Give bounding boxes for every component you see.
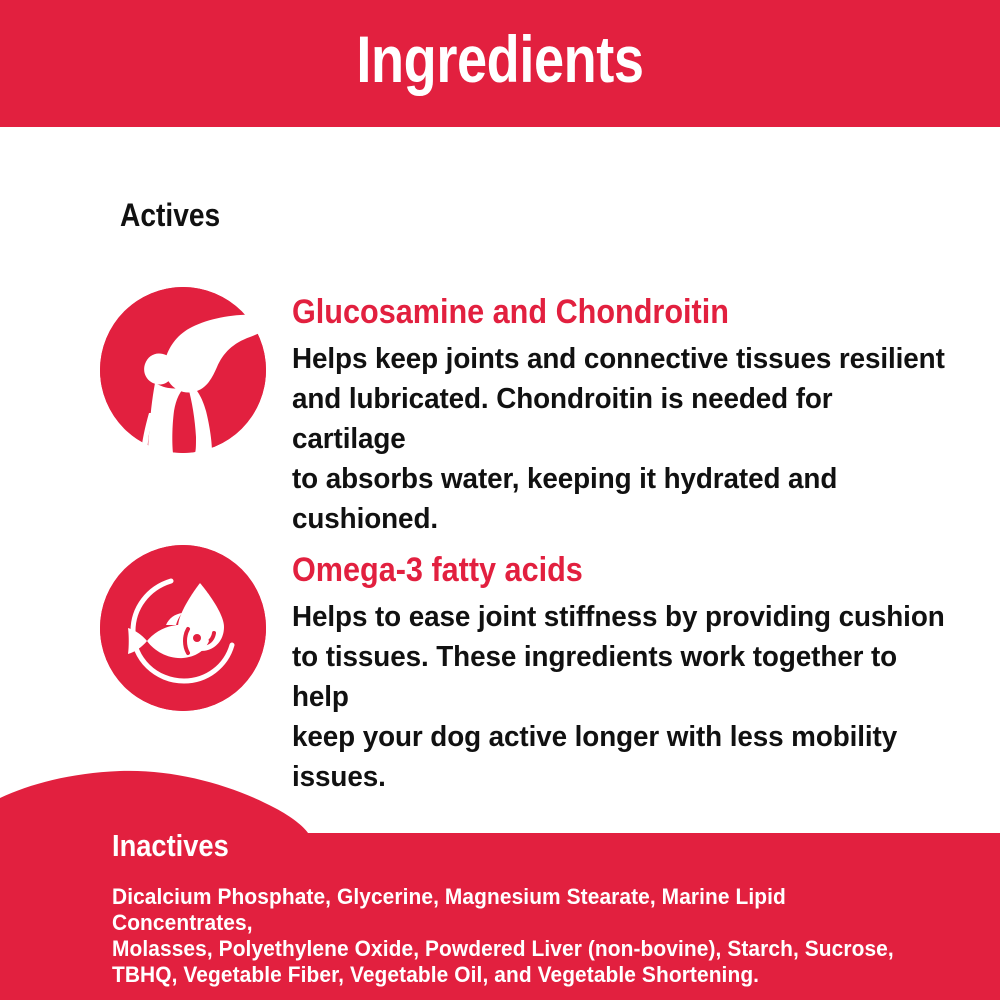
- inactives-panel: Inactives Dicalcium Phosphate, Glycerine…: [0, 760, 1000, 1000]
- ingredient-title: Omega-3 fatty acids: [292, 551, 911, 589]
- header-band: Ingredients: [0, 0, 1000, 127]
- actives-section-label: Actives: [120, 196, 220, 234]
- inactives-body-text: Dicalcium Phosphate, Glycerine, Magnesiu…: [112, 884, 929, 988]
- knee-joint-bone-icon: [100, 287, 266, 453]
- ingredient-item-glucosamine: Glucosamine and Chondroitin Helps keep j…: [100, 287, 980, 539]
- inactives-title: Inactives: [112, 828, 869, 864]
- ingredient-description: Helps keep joints and connective tissues…: [292, 339, 952, 539]
- ingredient-title: Glucosamine and Chondroitin: [292, 293, 911, 331]
- ingredient-text-block: Glucosamine and Chondroitin Helps keep j…: [266, 287, 980, 539]
- fish-oil-droplet-icon: [100, 545, 266, 711]
- ingredients-panel: Ingredients Actives: [0, 0, 1000, 1000]
- inactives-content: Inactives Dicalcium Phosphate, Glycerine…: [112, 828, 972, 988]
- page-title: Ingredients: [90, 18, 910, 100]
